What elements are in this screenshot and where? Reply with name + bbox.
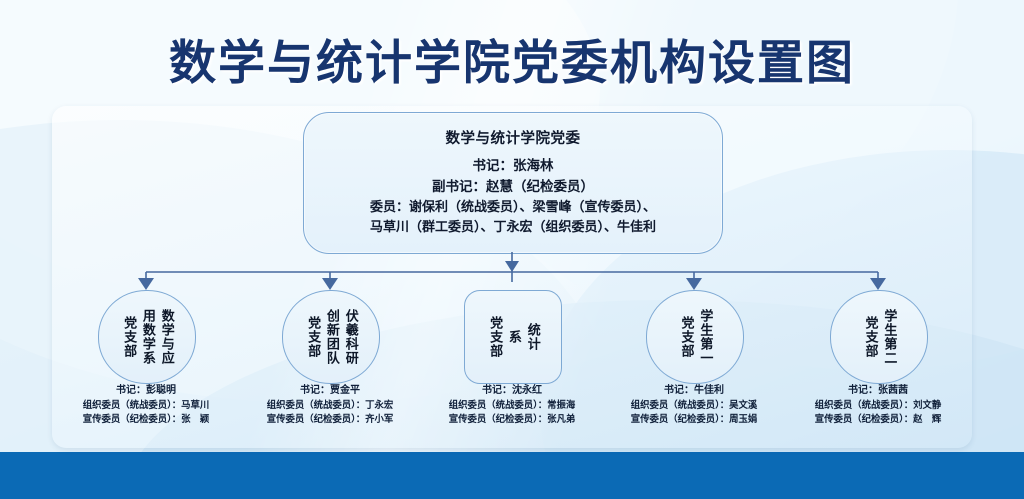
branch-3-publicity-member: 宣传委员（纪检委员）：张凡弟 bbox=[407, 413, 617, 427]
branch-node-5-col-2: 党支部 bbox=[862, 316, 878, 358]
org-chart-root: 数学与统计学院党委机构设置图 数学与统计学院党委 书记：张海林 副书记：赵慧（纪… bbox=[0, 0, 1024, 499]
branch-1-publicity-member: 宣传委员（纪检委员）：张 颖 bbox=[41, 413, 251, 427]
branch-node-1-col-3: 党支部 bbox=[120, 316, 136, 358]
branch-1-org-member: 组织委员（统战委员）：马草川 bbox=[41, 399, 251, 413]
branch-4-secretary: 书记：牛佳利 bbox=[589, 384, 799, 399]
branch-node-2-col-2: 创新团队 bbox=[323, 309, 339, 365]
branch-node-2-col-3: 党支部 bbox=[304, 316, 320, 358]
branch-3-secretary: 书记：沈永红 bbox=[407, 384, 617, 399]
branch-2-org-member: 组织委员（统战委员）：丁永宏 bbox=[225, 399, 435, 413]
branch-node-2[interactable]: 伏羲科研 创新团队 党支部 bbox=[282, 290, 380, 384]
branch-2-publicity-member: 宣传委员（纪检委员）：齐小军 bbox=[225, 413, 435, 427]
branch-node-4-text: 学生第一 党支部 bbox=[647, 291, 743, 383]
branch-node-4-col-2: 党支部 bbox=[678, 316, 694, 358]
party-committee-name: 数学与统计学院党委 bbox=[446, 127, 581, 148]
branch-node-1[interactable]: 数学与应 用数学系 党支部 bbox=[98, 290, 196, 384]
party-committee-line-3: 委员：谢保利（统战委员）、梁雪峰（宣传委员）、 bbox=[370, 198, 656, 218]
branch-node-3-text: 统计 系 党支部 bbox=[465, 291, 561, 383]
party-committee-line-2: 副书记：赵慧（纪检委员） bbox=[432, 177, 594, 198]
branch-3-org-member: 组织委员（统战委员）：常振海 bbox=[407, 399, 617, 413]
branch-5-publicity-member: 宣传委员（纪检委员）：赵 辉 bbox=[773, 413, 983, 427]
branch-node-4[interactable]: 学生第一 党支部 bbox=[646, 290, 744, 384]
branch-node-5-col-1: 学生第二 bbox=[881, 309, 897, 365]
branch-node-3-col-3: 党支部 bbox=[486, 316, 502, 358]
branch-node-3-col-2: 系 bbox=[505, 330, 521, 344]
branch-details-5: 书记：张茜茜 组织委员（统战委员）：刘文静 宣传委员（纪检委员）：赵 辉 bbox=[773, 384, 983, 427]
branch-node-3[interactable]: 统计 系 党支部 bbox=[464, 290, 562, 384]
branch-4-publicity-member: 宣传委员（纪检委员）：周玉娟 bbox=[589, 413, 799, 427]
branch-node-5-text: 学生第二 党支部 bbox=[831, 291, 927, 383]
branch-1-secretary: 书记：彭聪明 bbox=[41, 384, 251, 399]
party-committee-line-4: 马草川（群工委员）、丁永宏（组织委员）、牛佳利 bbox=[370, 218, 656, 238]
branch-5-org-member: 组织委员（统战委员）：刘文静 bbox=[773, 399, 983, 413]
branch-details-3: 书记：沈永红 组织委员（统战委员）：常振海 宣传委员（纪检委员）：张凡弟 bbox=[407, 384, 617, 427]
branch-5-secretary: 书记：张茜茜 bbox=[773, 384, 983, 399]
branch-node-1-text: 数学与应 用数学系 党支部 bbox=[99, 291, 195, 383]
branch-4-org-member: 组织委员（统战委员）：吴文溪 bbox=[589, 399, 799, 413]
branch-node-1-col-2: 用数学系 bbox=[139, 309, 155, 365]
branch-node-5[interactable]: 学生第二 党支部 bbox=[830, 290, 928, 384]
branch-details-1: 书记：彭聪明 组织委员（统战委员）：马草川 宣传委员（纪检委员）：张 颖 bbox=[41, 384, 251, 427]
branch-node-2-col-1: 伏羲科研 bbox=[342, 309, 358, 365]
party-committee-line-1: 书记：张海林 bbox=[473, 156, 554, 177]
branch-details-4: 书记：牛佳利 组织委员（统战委员）：吴文溪 宣传委员（纪检委员）：周玉娟 bbox=[589, 384, 799, 427]
branch-node-2-text: 伏羲科研 创新团队 党支部 bbox=[283, 291, 379, 383]
branch-node-4-col-1: 学生第一 bbox=[697, 309, 713, 365]
page-title: 数学与统计学院党委机构设置图 bbox=[0, 24, 1024, 93]
party-committee-box: 数学与统计学院党委 书记：张海林 副书记：赵慧（纪检委员） 委员：谢保利（统战委… bbox=[303, 112, 723, 254]
branch-2-secretary: 书记：贾金平 bbox=[225, 384, 435, 399]
branch-node-3-col-1: 统计 bbox=[524, 323, 540, 351]
branch-node-1-col-1: 数学与应 bbox=[158, 309, 174, 365]
branch-details-2: 书记：贾金平 组织委员（统战委员）：丁永宏 宣传委员（纪检委员）：齐小军 bbox=[225, 384, 435, 427]
